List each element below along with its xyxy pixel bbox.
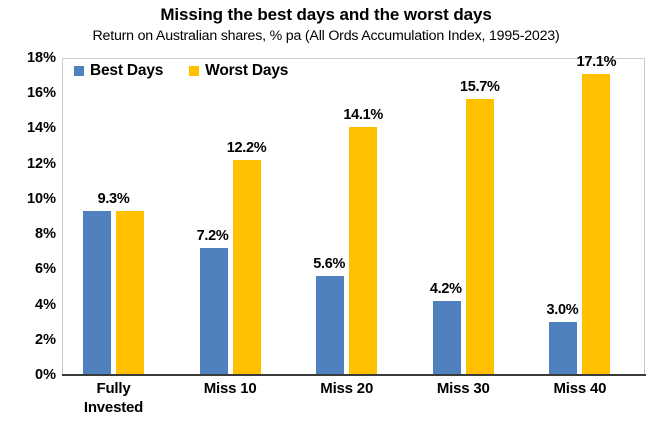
x-axis-tick-line: Miss 30 bbox=[437, 380, 490, 397]
x-axis-tick-label: Miss 20 bbox=[295, 379, 398, 398]
bar-data-label: 9.3% bbox=[69, 191, 158, 207]
bar-best-days bbox=[316, 276, 344, 375]
y-axis-tick-label: 16% bbox=[0, 86, 56, 100]
bar-best-days bbox=[200, 248, 228, 375]
bar-best-days bbox=[83, 211, 111, 375]
y-axis-tick-label: 14% bbox=[0, 121, 56, 135]
chart-title: Missing the best days and the worst days bbox=[0, 4, 652, 26]
y-axis-tick-label: 4% bbox=[0, 298, 56, 312]
y-axis-tick-label: 12% bbox=[0, 157, 56, 171]
bar-best-days bbox=[433, 301, 461, 375]
plot-area: 9.3%7.2%12.2%5.6%14.1%4.2%15.7%3.0%17.1% bbox=[62, 58, 645, 375]
bar-best-days bbox=[549, 322, 577, 375]
bar-chart: Missing the best days and the worst days… bbox=[0, 0, 652, 425]
x-axis-tick-label: Miss 30 bbox=[412, 379, 515, 398]
bar-data-label: 5.6% bbox=[294, 256, 364, 272]
x-axis-tick-line: Miss 10 bbox=[204, 380, 257, 397]
y-axis-tick-label: 8% bbox=[0, 227, 56, 241]
x-axis-tick-line: Miss 20 bbox=[320, 380, 373, 397]
bar-group: 3.0%17.1% bbox=[528, 58, 631, 375]
bar-worst-days bbox=[466, 99, 494, 375]
bar-group: 5.6%14.1% bbox=[295, 58, 398, 375]
bar-data-label: 3.0% bbox=[527, 302, 597, 318]
chart-subtitle: Return on Australian shares, % pa (All O… bbox=[0, 27, 652, 45]
x-axis-tick-line: Fully bbox=[96, 380, 130, 397]
bar-data-label: 7.2% bbox=[178, 228, 248, 244]
x-axis-tick-line: Invested bbox=[62, 398, 165, 417]
bar-worst-days bbox=[349, 127, 377, 375]
bar-data-label: 12.2% bbox=[211, 140, 283, 156]
bar-worst-days bbox=[233, 160, 261, 375]
y-axis-tick-label: 6% bbox=[0, 262, 56, 276]
bar-group: 4.2%15.7% bbox=[412, 58, 515, 375]
x-axis: FullyInvestedMiss 10Miss 20Miss 30Miss 4… bbox=[62, 379, 645, 425]
y-axis-tick-label: 18% bbox=[0, 51, 56, 65]
y-axis-tick-label: 10% bbox=[0, 192, 56, 206]
bar-group: 7.2%12.2% bbox=[179, 58, 282, 375]
bar-data-label: 4.2% bbox=[411, 281, 481, 297]
x-axis-baseline bbox=[62, 374, 646, 376]
bar-data-label: 15.7% bbox=[444, 79, 516, 95]
x-axis-tick-line: Miss 40 bbox=[553, 380, 606, 397]
y-axis-tick-label: 2% bbox=[0, 333, 56, 347]
y-axis-tick-label: 0% bbox=[0, 368, 56, 382]
bar-data-label: 14.1% bbox=[327, 107, 399, 123]
y-axis: 0%2%4%6%8%10%12%14%16%18% bbox=[0, 58, 56, 375]
bar-worst-days bbox=[582, 74, 610, 375]
bar-worst-days bbox=[116, 211, 144, 375]
bar-group: 9.3% bbox=[62, 58, 165, 375]
chart-header: Missing the best days and the worst days… bbox=[0, 4, 652, 45]
bar-data-label: 17.1% bbox=[560, 54, 632, 70]
x-axis-tick-label: Miss 10 bbox=[179, 379, 282, 398]
x-axis-tick-label: FullyInvested bbox=[62, 379, 165, 417]
x-axis-tick-label: Miss 40 bbox=[528, 379, 631, 398]
